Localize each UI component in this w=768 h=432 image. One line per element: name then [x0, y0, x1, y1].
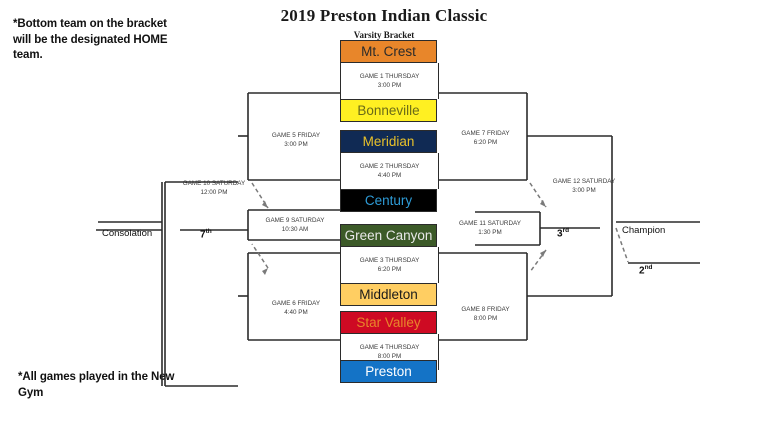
team-box-star-valley[interactable]: Star Valley: [340, 311, 437, 334]
second-place-label: 2nd: [639, 264, 653, 276]
game-12-label-group[interactable]: GAME 12 SATURDAY 3:00 PM: [535, 177, 633, 195]
game-11-label: GAME 11 SATURDAY: [444, 219, 536, 228]
team-box-middleton[interactable]: Middleton: [340, 283, 437, 306]
game-box-1[interactable]: GAME 1 THURSDAY 3:00 PM: [340, 63, 439, 99]
game-box-2[interactable]: GAME 2 THURSDAY 4:40 PM: [340, 153, 439, 189]
seventh-place-label: 7th: [200, 228, 212, 240]
team-box-bonneville[interactable]: Bonneville: [340, 99, 437, 122]
third-place-suffix: rd: [563, 227, 570, 234]
game-8-time: 8:00 PM: [443, 314, 528, 323]
bracket-canvas: 2019 Preston Indian Classic Varsity Brac…: [0, 0, 768, 432]
note-home-team: *Bottom team on the bracket will be the …: [13, 17, 178, 64]
seventh-place-suffix: th: [206, 228, 212, 235]
game-3-label: GAME 3 THURSDAY: [360, 256, 420, 265]
game-11-label-group[interactable]: GAME 11 SATURDAY 1:30 PM: [444, 219, 536, 237]
game-9-label: GAME 9 SATURDAY: [251, 216, 339, 225]
team-box-century[interactable]: Century: [340, 189, 437, 212]
team-box-green-canyon[interactable]: Green Canyon: [340, 224, 437, 247]
game-box-3[interactable]: GAME 3 THURSDAY 6:20 PM: [340, 247, 439, 283]
game-6-label: GAME 6 FRIDAY: [251, 299, 341, 308]
game-11-time: 1:30 PM: [444, 228, 536, 237]
team-box-meridian[interactable]: Meridian: [340, 130, 437, 153]
game-6-time: 4:40 PM: [251, 308, 341, 317]
consolation-label: Consolation: [102, 228, 152, 239]
game-5-label: GAME 5 FRIDAY: [251, 131, 341, 140]
game-7-time: 6:20 PM: [443, 138, 528, 147]
game-7-label-group[interactable]: GAME 7 FRIDAY 6:20 PM: [443, 129, 528, 147]
game-10-label-group[interactable]: GAME 10 SATURDAY 12:00 PM: [168, 179, 260, 197]
game-5-time: 3:00 PM: [251, 140, 341, 149]
game-1-time: 3:00 PM: [378, 81, 401, 90]
game-10-time: 12:00 PM: [168, 188, 260, 197]
game-12-time: 3:00 PM: [535, 186, 633, 195]
game-3-time: 6:20 PM: [378, 265, 401, 274]
second-place-suffix: nd: [645, 264, 653, 271]
game-6-label-group[interactable]: GAME 6 FRIDAY 4:40 PM: [251, 299, 341, 317]
game-9-label-group[interactable]: GAME 9 SATURDAY 10:30 AM: [251, 216, 339, 234]
game-1-label: GAME 1 THURSDAY: [360, 72, 420, 81]
game-9-time: 10:30 AM: [251, 225, 339, 234]
game-8-label: GAME 8 FRIDAY: [443, 305, 528, 314]
game-2-time: 4:40 PM: [378, 171, 401, 180]
game-2-label: GAME 2 THURSDAY: [360, 162, 420, 171]
champion-label: Champion: [622, 225, 665, 236]
note-gym: *All games played in the New Gym: [18, 370, 183, 401]
game-10-label: GAME 10 SATURDAY: [168, 179, 260, 188]
team-box-mt-crest[interactable]: Mt. Crest: [340, 40, 437, 63]
game-7-label: GAME 7 FRIDAY: [443, 129, 528, 138]
team-box-preston[interactable]: Preston: [340, 360, 437, 383]
game-8-label-group[interactable]: GAME 8 FRIDAY 8:00 PM: [443, 305, 528, 323]
game-5-label-group[interactable]: GAME 5 FRIDAY 3:00 PM: [251, 131, 341, 149]
game-4-label: GAME 4 THURSDAY: [360, 343, 420, 352]
third-place-label: 3rd: [557, 227, 569, 239]
game-12-label: GAME 12 SATURDAY: [535, 177, 633, 186]
